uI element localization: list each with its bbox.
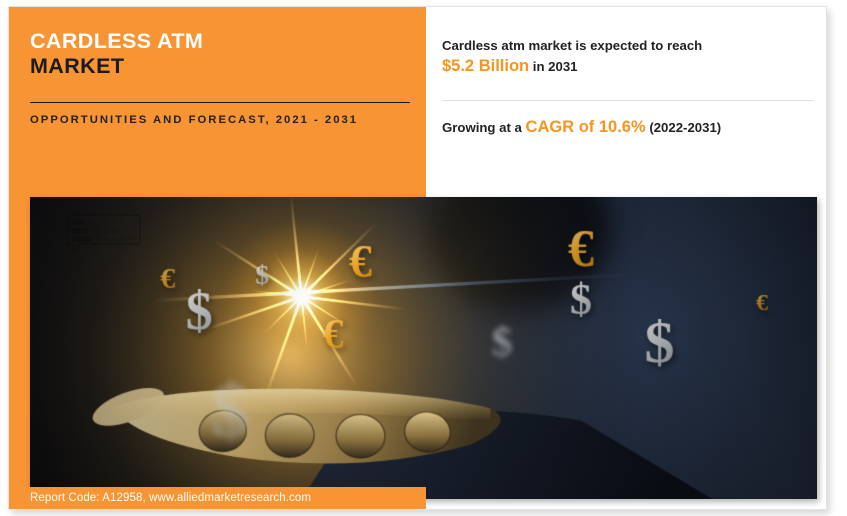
- stat-market-cagr: Growing at a CAGR of 10.6% (2022-2031): [442, 117, 814, 138]
- infographic-card: CARDLESS ATM MARKET OPPORTUNITIES AND FO…: [8, 6, 827, 510]
- subtitle-forecast-range: OPPORTUNITIES AND FORECAST, 2021 - 2031: [30, 111, 412, 129]
- hero-photo-canvas: [30, 197, 817, 499]
- watermark-line-3: Research: [96, 235, 135, 245]
- hero-photo: Allied Market Research: [30, 197, 817, 499]
- stat-cagr-suffix: (2022-2031): [649, 120, 721, 135]
- stat-reach-suffix: in 2031: [533, 59, 578, 74]
- title-line-secondary: MARKET: [30, 54, 410, 79]
- stat-reach-prefix: Cardless atm market is expected to reach: [442, 38, 702, 53]
- title-divider: [30, 102, 410, 103]
- stat-cagr-value: CAGR of 10.6%: [526, 118, 646, 136]
- allied-market-research-watermark-logo: Allied Market Research: [66, 213, 142, 255]
- stat-market-reach: Cardless atm market is expected to reach…: [442, 35, 814, 77]
- stats-divider: [442, 100, 814, 101]
- stats-panel: Cardless atm market is expected to reach…: [426, 7, 827, 197]
- stat-cagr-prefix: Growing at a: [442, 120, 522, 135]
- report-code-text: Report Code: A12958, www.alliedmarketres…: [9, 492, 311, 504]
- report-code-bar: Report Code: A12958, www.alliedmarketres…: [9, 487, 426, 509]
- title-line-primary: CARDLESS ATM: [30, 29, 410, 54]
- stat-reach-value: $5.2 Billion: [442, 57, 529, 75]
- page-title: CARDLESS ATM MARKET: [30, 29, 410, 79]
